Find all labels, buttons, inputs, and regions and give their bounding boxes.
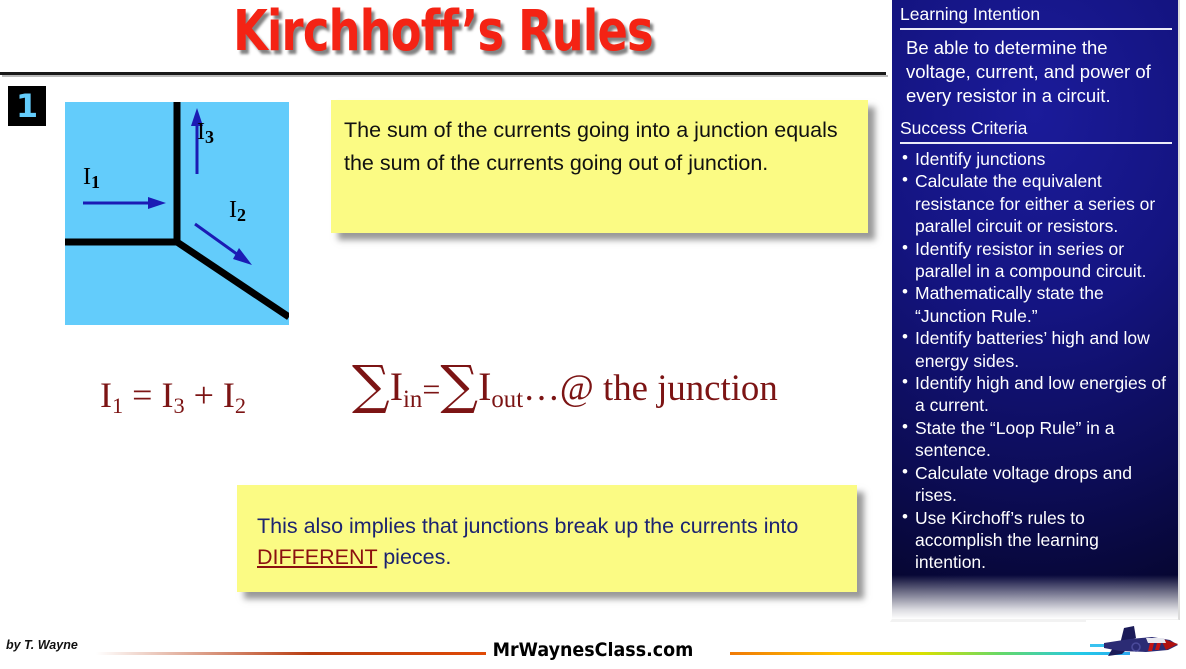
list-item: Use Kirchoff’s rules to accomplish the l… [902, 507, 1172, 574]
learning-intention-text: Be able to determine the voltage, curren… [892, 30, 1178, 114]
junction-rule-text: The sum of the currents going into a jun… [344, 114, 856, 180]
divider-success-criteria [900, 142, 1172, 144]
eq-i1-sub: 1 [112, 393, 123, 418]
success-criteria-list: Identify junctions Calculate the equival… [892, 148, 1178, 574]
eq-plus: + I [185, 375, 235, 415]
equation-sigma-junction: ∑Iin=∑Iout…@ the junction [352, 355, 778, 416]
title-bar: Kirchhoff’s Rules [0, 0, 886, 72]
eq-sum-in-sub: in [403, 386, 422, 413]
list-item: Identify batteries’ high and low energy … [902, 327, 1172, 372]
success-criteria-heading: Success Criteria [892, 114, 1178, 142]
eq-equals-2: = [422, 371, 440, 407]
sigma-icon-in: ∑ [352, 355, 390, 416]
rocket-car-icon [1090, 624, 1186, 664]
label-i2: I [229, 197, 237, 223]
label-i3: I [197, 119, 205, 145]
eq-sum-out-sub: out [491, 386, 523, 413]
arrow-i1 [83, 197, 166, 209]
implies-highlight: DIFFERENT [257, 545, 377, 569]
eq-i3-sub: 3 [173, 393, 184, 418]
slide-number-badge: 1 [8, 86, 46, 126]
sigma-icon-out: ∑ [440, 355, 478, 416]
label-i1-subscript: 1 [91, 172, 100, 192]
list-item: Mathematically state the “Junction Rule.… [902, 282, 1172, 327]
eq-i2-sub: 2 [235, 393, 246, 418]
learning-intention-heading: Learning Intention [892, 0, 1178, 28]
eq-equals-1: = I [123, 375, 173, 415]
eq-i1: I [100, 375, 112, 415]
wire-paths [65, 102, 289, 317]
footer-gradient-line-right [730, 652, 1130, 655]
page-title: Kirchhoff’s Rules [89, 0, 798, 68]
implies-callout: This also implies that junctions break u… [237, 485, 857, 592]
list-item: Identify high and low energies of a curr… [902, 372, 1172, 417]
list-item: Identify resistor in series or parallel … [902, 238, 1172, 283]
implies-prefix: This also implies that junctions break u… [257, 514, 798, 538]
footer-site-link[interactable]: MrWaynesClass.com [47, 639, 1138, 661]
label-i3-subscript: 3 [205, 127, 214, 147]
list-item: Identify junctions [902, 148, 1172, 170]
list-item: State the “Loop Rule” in a sentence. [902, 417, 1172, 462]
list-item: Calculate the equivalent resistance for … [902, 170, 1172, 237]
title-rule [0, 72, 886, 75]
eq-sum-i-out: I [478, 364, 491, 409]
label-i1: I [83, 164, 91, 190]
footer: by T. Wayne MrWaynesClass.com [0, 622, 1186, 667]
junction-circuit-diagram: I3 I1 I2 [65, 102, 289, 325]
implies-text: This also implies that junctions break u… [257, 511, 847, 573]
objectives-sidebar: Learning Intention Be able to determine … [890, 0, 1180, 622]
junction-rule-callout: The sum of the currents going into a jun… [331, 100, 868, 233]
eq-sum-i-in: I [390, 364, 403, 409]
list-item: Calculate voltage drops and rises. [902, 462, 1172, 507]
title-rule-shadow [2, 75, 888, 77]
equation-current-sum: I1 = I3 + I2 [100, 374, 246, 419]
label-i2-subscript: 2 [237, 205, 246, 225]
eq-sum-tail: …@ the junction [523, 367, 778, 408]
implies-suffix: pieces. [377, 545, 451, 569]
